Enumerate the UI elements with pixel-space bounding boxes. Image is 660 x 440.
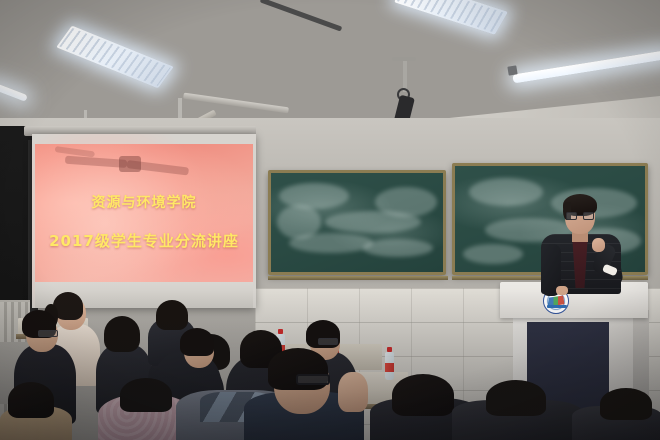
projected-slide: 资源与环境学院 2017级学生专业分流讲座: [35, 144, 253, 284]
eyeglasses-icon: [296, 374, 330, 385]
projector-ceiling-plate: [392, 57, 416, 61]
projection-screen: 资源与环境学院 2017级学生专业分流讲座: [32, 134, 256, 308]
chalk-smear: [463, 244, 523, 264]
slide-heading: 资源与环境学院: [35, 192, 253, 212]
student-hair: [180, 328, 214, 356]
fan-shadow-hub: [119, 156, 141, 172]
student-hair: [8, 382, 54, 418]
recessed-fluorescent-right: [394, 0, 508, 35]
chalk-smear: [375, 187, 437, 217]
fluorescent-tube-right: [512, 50, 660, 84]
student-hair: [156, 300, 188, 330]
student-hand: [338, 372, 368, 412]
lecture-hall-photo: 资源与环境学院 2017级学生专业分流讲座: [0, 0, 660, 440]
eyeglasses-icon: [566, 212, 594, 220]
chalk-smear: [363, 239, 433, 257]
chalk-smear: [469, 178, 543, 206]
water-bottle: [385, 352, 394, 380]
student-hair: [486, 380, 546, 416]
bottle-label: [385, 363, 394, 372]
glasses-lens-right: [583, 212, 594, 220]
student-hair: [104, 316, 140, 352]
presenter-hand-on-lectern: [556, 286, 568, 295]
ceiling-beam-dark: [260, 0, 343, 32]
emblem-base-bar: [547, 305, 567, 308]
chalk-smear: [277, 205, 321, 239]
chalk-tray-left: [268, 276, 448, 280]
recessed-fluorescent-left: [56, 26, 174, 89]
tube-endcap: [507, 65, 517, 75]
fluorescent-tube-far-left: [0, 81, 28, 102]
student-hair: [600, 388, 652, 420]
eyeglasses-icon: [38, 330, 58, 337]
student-hair: [120, 378, 172, 412]
chalk-smear: [279, 183, 349, 209]
eyeglasses-icon: [318, 338, 338, 345]
glasses-lens-left: [566, 212, 577, 220]
blackboard-left: [268, 170, 446, 275]
slide-subheading: 2017级学生专业分流讲座: [35, 230, 253, 251]
ceiling-rail: [183, 93, 289, 114]
presenter-hand-gesture: [592, 238, 605, 252]
student-hair: [392, 374, 454, 416]
